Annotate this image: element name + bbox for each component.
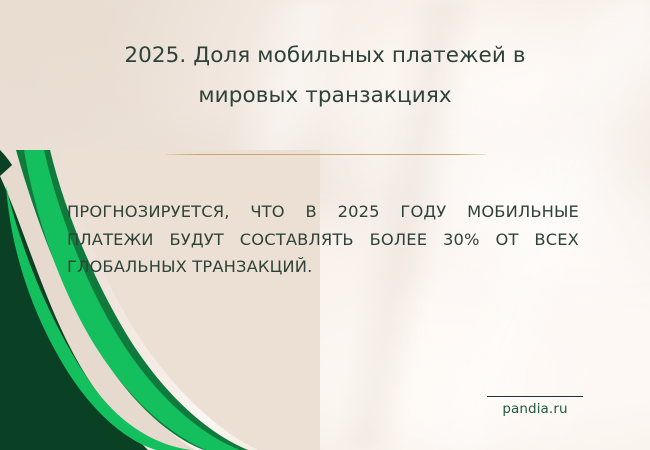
footer-rule bbox=[487, 396, 583, 397]
footer: pandia.ru bbox=[487, 396, 583, 417]
page-title-line-1: 2025. Доля мобильных платежей в bbox=[0, 36, 650, 76]
page-title: 2025. Доля мобильных платежей в мировых … bbox=[0, 36, 650, 116]
body-paragraph: ПРОГНОЗИРУЕТСЯ, ЧТО В 2025 ГОДУ МОБИЛЬНЫ… bbox=[67, 198, 579, 281]
slide-canvas: 2025. Доля мобильных платежей в мировых … bbox=[0, 0, 650, 450]
body-text-block: ПРОГНОЗИРУЕТСЯ, ЧТО В 2025 ГОДУ МОБИЛЬНЫ… bbox=[67, 198, 579, 281]
page-title-line-2: мировых транзакциях bbox=[0, 76, 650, 116]
gold-divider-rule bbox=[166, 154, 486, 155]
footer-source-label: pandia.ru bbox=[487, 401, 583, 417]
